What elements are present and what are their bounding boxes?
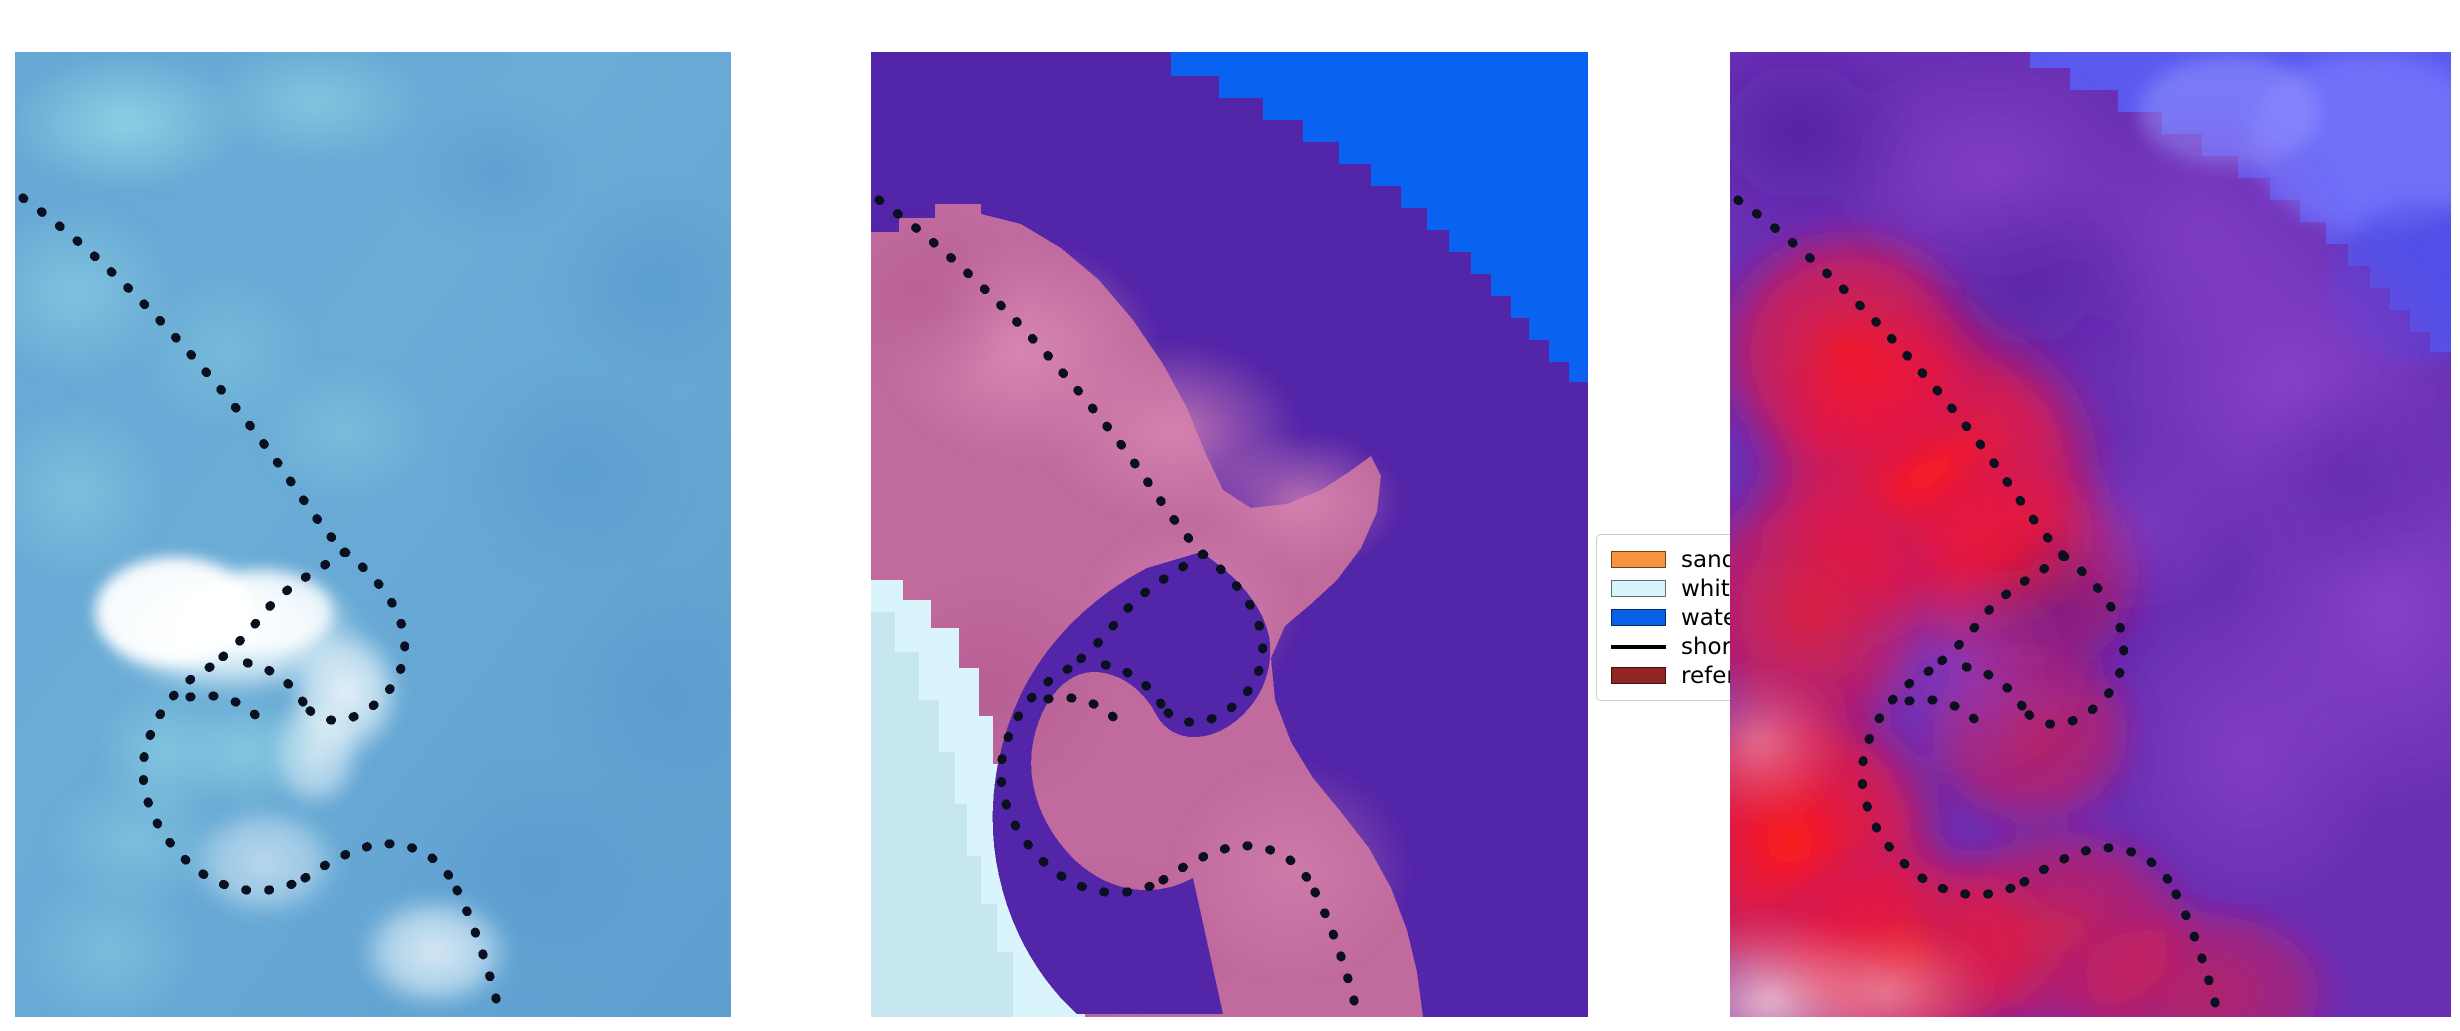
classification-image [871, 52, 1588, 1017]
figure-canvas: sar1559 [0, 0, 2460, 1031]
l5-image [1730, 52, 2451, 1017]
shoreline-line-icon [1611, 645, 1666, 649]
reference-shoreline-swatch-icon [1611, 667, 1666, 684]
panel-classified: 2005-01-24-09-52-22 [871, 52, 1588, 1017]
legend-label-shoreline: shoreline [1681, 634, 1730, 660]
legend-label-sand: sand [1681, 547, 1730, 573]
panel-l5: L5 [1730, 52, 2451, 1017]
legend-item-water: water [1611, 603, 1730, 632]
legend-label-whitewater: whitewater [1681, 576, 1730, 602]
legend-label-reference-shoreline: reference shoreline [1681, 663, 1730, 689]
sand-swatch-icon [1611, 551, 1666, 568]
legend-item-sand: sand [1611, 545, 1730, 574]
panel-sar1559: sar1559 [15, 52, 731, 1017]
legend-item-shoreline: shoreline [1611, 632, 1730, 661]
legend-box: sand whitewater water shoreline referenc… [1596, 534, 1730, 701]
water-swatch-icon [1611, 609, 1666, 626]
sar-image [15, 52, 731, 1017]
legend-item-reference-shoreline: reference shoreline [1611, 661, 1730, 690]
legend-item-whitewater: whitewater [1611, 574, 1730, 603]
legend: sand whitewater water shoreline referenc… [1590, 528, 1730, 708]
legend-label-water: water [1681, 605, 1730, 631]
whitewater-swatch-icon [1611, 580, 1666, 597]
